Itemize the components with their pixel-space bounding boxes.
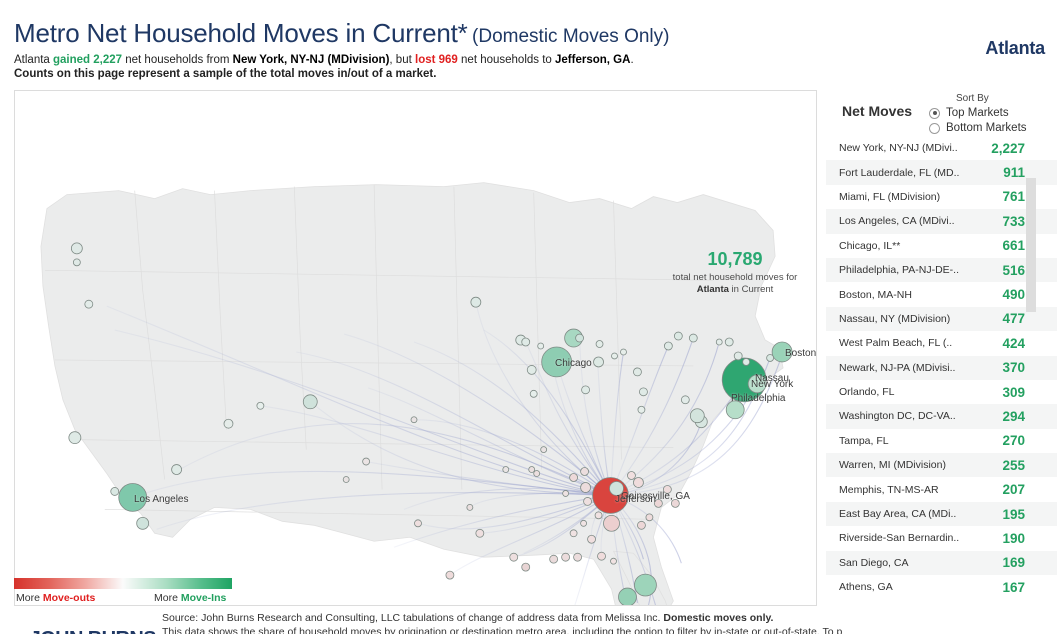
page-root: Metro Net Household Moves in Current* (D… <box>0 0 1057 634</box>
source-line-1b: Domestic moves only. <box>663 612 773 624</box>
net-moves-value-cell: 761 <box>961 189 1025 204</box>
net-moves-value-cell: 477 <box>961 311 1025 326</box>
net-moves-value-cell: 255 <box>961 458 1025 473</box>
header: Metro Net Household Moves in Current* (D… <box>14 18 1044 80</box>
table-row[interactable]: Washington DC, DC-VA..294 <box>826 404 1057 428</box>
market-name-cell: Washington DC, DC-VA.. <box>839 410 959 422</box>
from-market: New York, NY-NJ (MDivision) <box>233 54 390 66</box>
net-moves-value-cell: 370 <box>961 360 1025 375</box>
net-moves-value-cell: 309 <box>961 385 1025 400</box>
radio-top-markets[interactable]: Top Markets <box>929 107 1027 119</box>
table-row[interactable]: Philadelphia, PA-NJ-DE-..516 <box>826 258 1057 282</box>
legend-label-move-outs: More Move-outs <box>16 592 95 604</box>
market-name-cell: Nassau, NY (MDivision) <box>839 313 959 325</box>
logo-bars-icon: ≡ <box>20 628 30 634</box>
table-row[interactable]: Riverside-San Bernardin..190 <box>826 526 1057 550</box>
source-line-1a: Source: John Burns Research and Consulti… <box>162 612 663 624</box>
market-name-cell: Warren, MI (MDivision) <box>839 459 959 471</box>
summary-mid-2: , but <box>389 54 415 66</box>
net-moves-value-cell: 294 <box>961 409 1025 424</box>
net-moves-value-cell: 490 <box>961 287 1025 302</box>
market-name-cell: New York, NY-NJ (MDivi.. <box>839 142 959 154</box>
table-row[interactable]: Athens, GA167 <box>826 575 1057 599</box>
net-moves-value-cell: 190 <box>961 531 1025 546</box>
summary-end: . <box>630 54 633 66</box>
gained-value: gained 2,227 <box>53 54 122 66</box>
map-legend: More Move-outs More Move-Ins <box>14 578 232 606</box>
table-row[interactable]: East Bay Area, CA (MDi..195 <box>826 502 1057 526</box>
table-row[interactable]: New York, NY-NJ (MDivi..2,227 <box>826 136 1057 160</box>
net-moves-value-cell: 2,227 <box>961 141 1025 156</box>
table-row[interactable]: Nassau, NY (MDivision)477 <box>826 307 1057 331</box>
market-list-scrollbar-thumb[interactable] <box>1026 178 1036 312</box>
sort-by-group[interactable]: Sort By Top Markets Bottom Markets <box>929 93 1027 134</box>
table-row[interactable]: Newark, NJ-PA (MDivisi..370 <box>826 356 1057 380</box>
lost-value: lost 969 <box>415 54 458 66</box>
net-moves-value-cell: 207 <box>961 482 1025 497</box>
page-title: Metro Net Household Moves in Current* (D… <box>14 18 1044 49</box>
table-row[interactable]: Miami, FL (MDivision)761 <box>826 185 1057 209</box>
market-list[interactable]: New York, NY-NJ (MDivi..2,227Fort Lauder… <box>826 136 1057 604</box>
market-list-body: New York, NY-NJ (MDivi..2,227Fort Lauder… <box>826 136 1057 599</box>
table-row[interactable]: Tampa, FL270 <box>826 429 1057 453</box>
market-name-cell: Newark, NJ-PA (MDivisi.. <box>839 362 959 374</box>
net-moves-value-cell: 733 <box>961 214 1025 229</box>
market-name-cell: East Bay Area, CA (MDi.. <box>839 508 959 520</box>
table-row[interactable]: Fort Lauderdale, FL (MD..911 <box>826 160 1057 184</box>
table-row[interactable]: San Diego, CA169 <box>826 551 1057 575</box>
footer: ≡JOHN BURNS Source: John Burns Research … <box>0 612 1057 634</box>
to-market: Jefferson, GA <box>555 54 630 66</box>
radio-bottom-markets-label: Bottom Markets <box>946 122 1027 134</box>
market-name-cell: Chicago, IL** <box>839 240 959 252</box>
current-market-name: Atlanta <box>985 38 1045 59</box>
table-row[interactable]: West Palm Beach, FL (..424 <box>826 331 1057 355</box>
table-row[interactable]: Los Angeles, CA (MDivi..733 <box>826 209 1057 233</box>
page-title-main: Metro Net Household Moves in Current* <box>14 18 468 48</box>
summary-prefix: Atlanta <box>14 54 53 66</box>
panel-title: Net Moves <box>842 103 912 119</box>
market-name-cell: Athens, GA <box>839 581 959 593</box>
market-name-cell: Riverside-San Bernardin.. <box>839 532 959 544</box>
table-row[interactable]: Orlando, FL309 <box>826 380 1057 404</box>
source-line-1: Source: John Burns Research and Consulti… <box>162 612 773 624</box>
map-panel[interactable]: 10,789 total net household moves for Atl… <box>14 90 817 606</box>
market-name-cell: Philadelphia, PA-NJ-DE-.. <box>839 264 959 276</box>
market-name-cell: San Diego, CA <box>839 557 959 569</box>
page-title-sub: (Domestic Moves Only) <box>472 26 669 47</box>
table-row[interactable]: Memphis, TN-MS-AR207 <box>826 477 1057 501</box>
radio-bottom-markets-icon[interactable] <box>929 123 940 134</box>
panel-header: Net Moves Sort By Top Markets Bottom Mar… <box>826 90 1057 136</box>
net-moves-value-cell: 195 <box>961 507 1025 522</box>
summary-line: Atlanta gained 2,227 net households from… <box>14 54 1044 66</box>
market-name-cell: Orlando, FL <box>839 386 959 398</box>
net-moves-value-cell: 911 <box>961 165 1025 180</box>
market-name-cell: Fort Lauderdale, FL (MD.. <box>839 167 959 179</box>
legend-gradient-bar <box>14 578 232 589</box>
net-moves-value-cell: 661 <box>961 238 1025 253</box>
table-row[interactable]: Warren, MI (MDivision)255 <box>826 453 1057 477</box>
legend-labels: More Move-outs More Move-Ins <box>14 592 232 606</box>
table-row[interactable]: Chicago, IL**661 <box>826 234 1057 258</box>
map-canvas[interactable] <box>15 91 816 605</box>
company-logo: ≡JOHN BURNS <box>20 628 156 634</box>
source-line-2: This data shows the share of household m… <box>162 626 842 634</box>
summary-mid-1: net households from <box>122 54 233 66</box>
radio-top-markets-label: Top Markets <box>946 107 1009 119</box>
summary-mid-3: net households to <box>458 54 555 66</box>
market-name-cell: Boston, MA-NH <box>839 289 959 301</box>
legend-label-move-ins: More Move-Ins <box>154 592 226 604</box>
net-moves-value-cell: 167 <box>961 580 1025 595</box>
market-name-cell: Memphis, TN-MS-AR <box>839 484 959 496</box>
sort-by-label: Sort By <box>956 93 1027 104</box>
radio-top-markets-icon[interactable] <box>929 108 940 119</box>
market-name-cell: Los Angeles, CA (MDivi.. <box>839 215 959 227</box>
summary-note: Counts on this page represent a sample o… <box>14 68 1044 80</box>
radio-bottom-markets[interactable]: Bottom Markets <box>929 122 1027 134</box>
net-moves-value-cell: 169 <box>961 555 1025 570</box>
market-name-cell: West Palm Beach, FL (.. <box>839 337 959 349</box>
net-moves-value-cell: 270 <box>961 433 1025 448</box>
market-name-cell: Miami, FL (MDivision) <box>839 191 959 203</box>
net-moves-value-cell: 424 <box>961 336 1025 351</box>
market-name-cell: Tampa, FL <box>839 435 959 447</box>
net-moves-value-cell: 516 <box>961 263 1025 278</box>
table-row[interactable]: Boston, MA-NH490 <box>826 282 1057 306</box>
net-moves-panel: Net Moves Sort By Top Markets Bottom Mar… <box>826 90 1057 606</box>
logo-text: JOHN BURNS <box>30 628 156 634</box>
